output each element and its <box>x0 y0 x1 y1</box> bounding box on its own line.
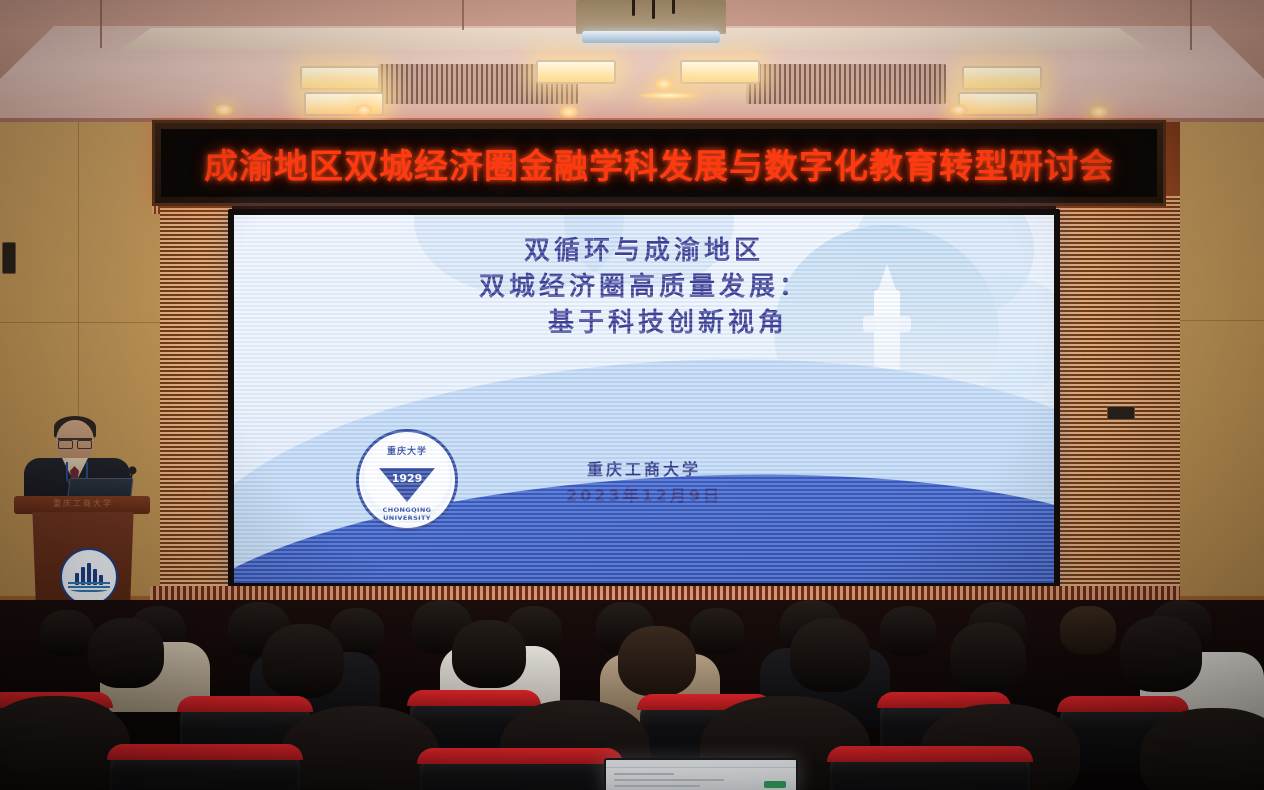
left-wall-seam-horizontal <box>0 322 160 323</box>
emblem-water <box>68 582 109 592</box>
ceiling-rod-1 <box>100 0 102 48</box>
laptop-text-row <box>614 779 724 781</box>
ceiling-downlight-1 <box>215 104 233 116</box>
conference-hall-photo: 成渝地区双城经济圈金融学科发展与数字化教育转型研讨会 双循环与成渝地区 双城经济… <box>0 0 1264 790</box>
slide-title-line-1: 双循环与成渝地区 <box>234 233 1054 269</box>
auditorium-seat-foreground <box>110 748 300 790</box>
laptop-toolbar <box>606 760 796 768</box>
projector-cable-1 <box>632 0 635 16</box>
audience-head <box>618 626 696 696</box>
ceiling-panel-light-1 <box>300 66 380 90</box>
slide-title-line-2: 双城经济圈高质量发展： <box>234 269 1054 305</box>
audience-head <box>690 608 744 654</box>
wood-slat-column-left <box>160 196 232 616</box>
ceiling-panel-light-3 <box>536 60 616 84</box>
chongqing-university-logo: 重庆大学 1929 CHONGQING UNIVERSITY <box>356 429 458 531</box>
podium-front-text: 重庆工商大学 <box>30 498 136 509</box>
projector-lens <box>582 31 720 43</box>
led-banner: 成渝地区双城经济圈金融学科发展与数字化教育转型研讨会 <box>152 120 1166 206</box>
ceiling-rod-3 <box>1190 0 1192 50</box>
audience-head-foreground <box>280 706 440 790</box>
glasses-icon <box>58 438 92 447</box>
audience-head <box>950 622 1026 692</box>
audience-head <box>40 610 94 656</box>
ctbu-emblem-icon <box>60 548 118 606</box>
auditorium-seat-foreground <box>830 750 1030 790</box>
projection-screen: 双循环与成渝地区 双城经济圈高质量发展： 基于科技创新视角 姚树洁 城市化与区域… <box>228 209 1060 589</box>
wall-outlet-icon[interactable] <box>1107 406 1135 420</box>
led-banner-text: 成渝地区双城经济圈金融学科发展与数字化教育转型研讨会 <box>204 139 1114 188</box>
ceiling-panel-light-6 <box>958 92 1038 116</box>
right-wall-seam <box>1180 320 1264 321</box>
wall-socket-icon[interactable] <box>2 242 16 274</box>
led-banner-screen: 成渝地区双城经济圈金融学科发展与数字化教育转型研讨会 <box>161 129 1157 197</box>
ceiling-panel-light-4 <box>680 60 760 84</box>
audience-head <box>790 618 870 692</box>
projector-cable-3 <box>672 0 675 14</box>
audience-head <box>88 618 164 688</box>
ceiling-panel-light-5 <box>962 66 1042 90</box>
ceiling <box>0 0 1264 128</box>
projector-cable-2 <box>652 0 655 19</box>
laptop-text-row <box>614 785 700 787</box>
audience-head <box>1120 616 1202 692</box>
logo-top-text: 重庆大学 <box>359 444 455 457</box>
slide-title: 双循环与成渝地区 双城经济圈高质量发展： 基于科技创新视角 <box>234 233 1054 341</box>
projector-icon <box>576 0 726 34</box>
ceiling-downlight-5 <box>950 104 968 116</box>
audience-head <box>452 620 526 688</box>
audience-head <box>880 606 936 656</box>
audience-head <box>1060 606 1116 654</box>
ceiling-track-light <box>640 92 698 99</box>
ceiling-downlight-4 <box>655 78 673 90</box>
right-wall <box>1180 122 1264 622</box>
auditorium-seat-foreground <box>420 752 620 790</box>
logo-bottom-text: CHONGQING UNIVERSITY <box>359 506 455 522</box>
ceiling-downlight-6 <box>1090 106 1108 118</box>
laptop-green-badge <box>764 781 786 788</box>
presentation-slide: 双循环与成渝地区 双城经济圈高质量发展： 基于科技创新视角 姚树洁 城市化与区域… <box>234 215 1054 583</box>
ceiling-rod-2 <box>462 0 464 30</box>
logo-year: 1929 <box>359 472 455 485</box>
laptop-text-row <box>614 773 674 775</box>
ceiling-downlight-2 <box>355 104 373 116</box>
slide-title-line-3: 基于科技创新视角 <box>234 305 1054 341</box>
ceiling-downlight-3 <box>560 106 578 118</box>
audience-laptop-screen[interactable] <box>604 758 798 790</box>
audience-head <box>262 624 344 698</box>
stage-slat-trim <box>150 586 1180 600</box>
ceiling-vent-right <box>746 64 946 104</box>
